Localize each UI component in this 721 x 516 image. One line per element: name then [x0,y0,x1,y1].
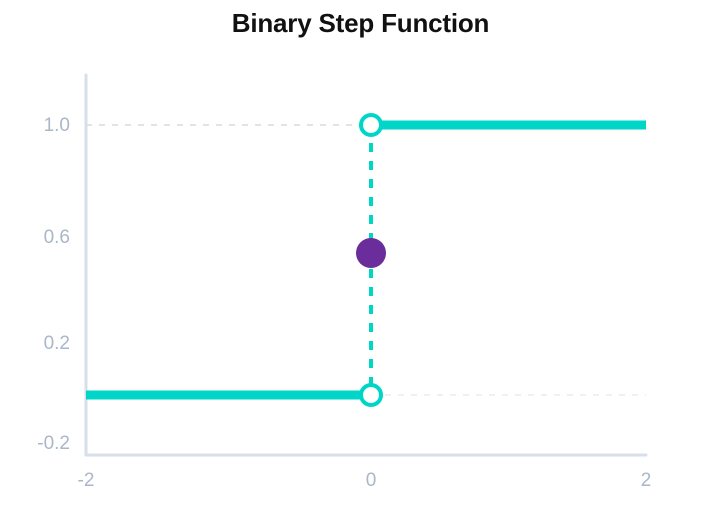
y-tick-label-0.2: 0.2 [44,333,70,354]
marker-highlight-point [356,238,386,268]
marker-open-circle-lower [361,385,381,405]
x-tick-label-2: 2 [641,470,652,491]
y-tick-label--0.2: -0.2 [37,433,70,454]
x-tick-label--2: -2 [78,470,95,491]
chart-figure: Binary Step Function 1.0 0.6 0.2 -0.2 -2… [0,0,721,516]
y-tick-label-0.6: 0.6 [44,227,70,248]
x-tick-label-0: 0 [366,470,377,491]
plot-area: 1.0 0.6 0.2 -0.2 -2 0 2 [0,0,721,516]
marker-open-circle-upper [361,115,381,135]
y-tick-label-1.0: 1.0 [44,115,70,136]
